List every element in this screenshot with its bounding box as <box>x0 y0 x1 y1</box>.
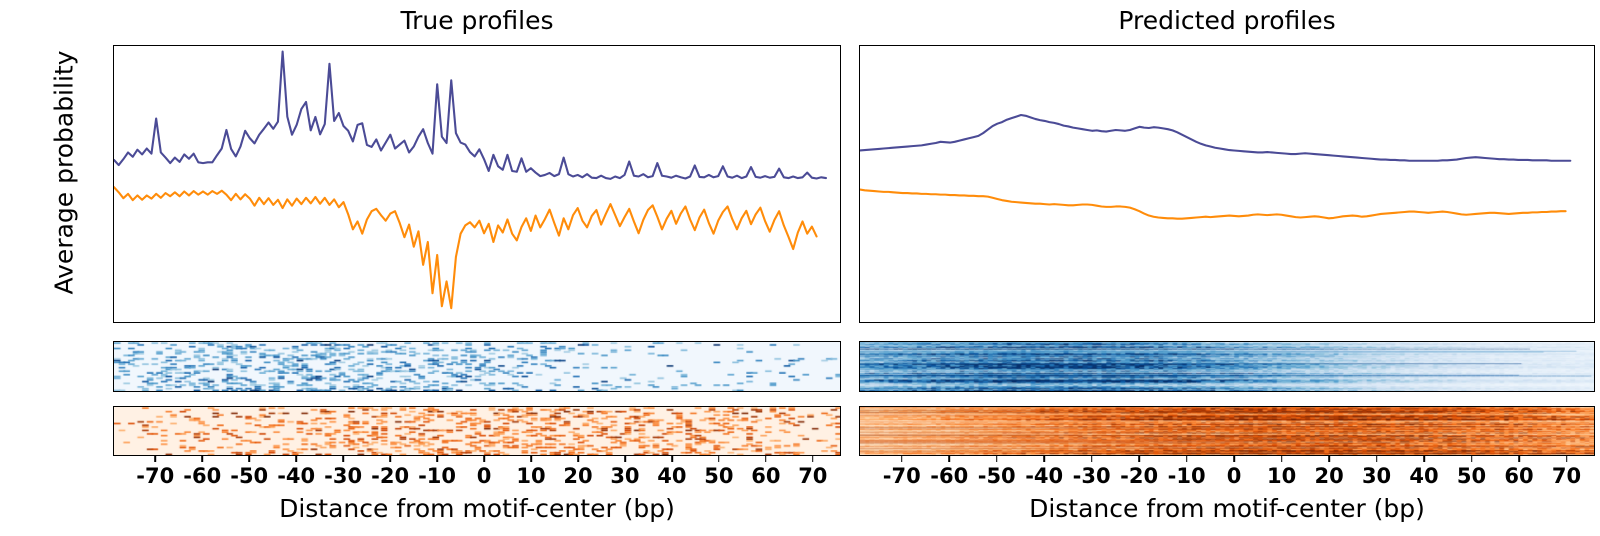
x-tick-label: -20 <box>1120 464 1158 488</box>
x-tick-label: 60 <box>751 464 780 488</box>
x-tick-label: 0 <box>477 464 492 488</box>
x-tick-label: -40 <box>277 464 315 488</box>
x-tick-mark <box>1138 456 1140 462</box>
panel-true-profiles: True profiles 0.020.00-0.02 Distance fro… <box>113 0 841 536</box>
y-axis-label: Average probability <box>50 23 79 323</box>
x-tick-mark <box>901 456 903 462</box>
x-tick-mark <box>1328 456 1330 462</box>
x-tick-label: -50 <box>230 464 268 488</box>
series-true-positive <box>114 52 826 179</box>
x-tick-label: 30 <box>610 464 639 488</box>
x-tick-label: -60 <box>183 464 221 488</box>
heatmap-true-positive-strand <box>113 341 841 392</box>
x-tick-label: 10 <box>516 464 545 488</box>
x-axis-label-true: Distance from motif-center (bp) <box>113 494 841 523</box>
x-tick-mark <box>483 456 485 462</box>
x-tick-mark <box>1423 456 1425 462</box>
lineplot-predicted-svg <box>860 46 1594 322</box>
series-predicted-positive <box>860 115 1570 161</box>
x-tick-mark <box>436 456 438 462</box>
x-tick-mark <box>154 456 156 462</box>
x-tick-label: 30 <box>1362 464 1391 488</box>
x-tick-label: 60 <box>1504 464 1533 488</box>
x-tick-mark <box>248 456 250 462</box>
x-tick-label: -60 <box>930 464 968 488</box>
x-tick-mark <box>1518 456 1520 462</box>
x-tick-mark <box>201 456 203 462</box>
x-tick-mark <box>295 456 297 462</box>
x-tick-mark <box>996 456 998 462</box>
x-tick-mark <box>530 456 532 462</box>
x-tick-label: -30 <box>324 464 362 488</box>
x-tick-mark <box>1566 456 1568 462</box>
x-tick-label: 20 <box>1314 464 1343 488</box>
x-tick-mark <box>948 456 950 462</box>
x-tick-label: -50 <box>978 464 1016 488</box>
heatmap-true-positive-canvas <box>114 342 840 391</box>
series-true-negative <box>114 187 817 308</box>
x-tick-mark <box>1186 456 1188 462</box>
figure-root: Average probability True profiles 0.020.… <box>0 0 1600 536</box>
x-tick-label: 50 <box>704 464 733 488</box>
y-tick-mark <box>113 107 114 109</box>
x-tick-label: 40 <box>657 464 686 488</box>
x-tick-mark <box>765 456 767 462</box>
x-tick-label: -70 <box>136 464 174 488</box>
series-predicted-negative <box>860 190 1566 219</box>
heatmap-predicted-positive-strand <box>859 341 1595 392</box>
heatmap-predicted-positive-canvas <box>860 342 1594 391</box>
x-tick-label: 70 <box>798 464 827 488</box>
x-tick-label: 50 <box>1457 464 1486 488</box>
heatmap-true-negative-strand <box>113 406 841 456</box>
lineplot-true: 0.020.00-0.02 <box>113 45 841 323</box>
x-tick-label: -70 <box>883 464 921 488</box>
x-tick-mark <box>812 456 814 462</box>
x-axis-label-predicted: Distance from motif-center (bp) <box>859 494 1595 523</box>
heatmap-predicted-negative-strand <box>859 406 1595 456</box>
x-tick-label: -10 <box>1168 464 1206 488</box>
x-tick-mark <box>389 456 391 462</box>
x-tick-mark <box>577 456 579 462</box>
lineplot-predicted <box>859 45 1595 323</box>
y-tick-mark <box>113 186 114 188</box>
x-tick-mark <box>1471 456 1473 462</box>
x-tick-label: -30 <box>1073 464 1111 488</box>
heatmap-predicted-negative-canvas <box>860 407 1594 455</box>
x-tick-mark <box>671 456 673 462</box>
x-tick-mark <box>1376 456 1378 462</box>
x-tick-label: 20 <box>563 464 592 488</box>
x-tick-label: 70 <box>1552 464 1581 488</box>
panel-title-predicted: Predicted profiles <box>859 6 1595 36</box>
y-tick-mark <box>113 266 114 268</box>
x-tick-mark <box>624 456 626 462</box>
x-axis-true: Distance from motif-center (bp) -70-60-5… <box>113 456 841 536</box>
x-tick-mark <box>1281 456 1283 462</box>
x-tick-mark <box>1233 456 1235 462</box>
panel-title-true: True profiles <box>113 6 841 36</box>
panel-predicted-profiles: Predicted profiles Distance from motif-c… <box>859 0 1595 536</box>
heatmap-true-negative-canvas <box>114 407 840 455</box>
x-tick-label: 40 <box>1409 464 1438 488</box>
x-tick-mark <box>342 456 344 462</box>
x-tick-label: 0 <box>1227 464 1242 488</box>
x-tick-label: -40 <box>1025 464 1063 488</box>
x-tick-mark <box>1043 456 1045 462</box>
lineplot-true-svg <box>114 46 840 322</box>
x-tick-mark <box>1091 456 1093 462</box>
x-tick-label: 10 <box>1267 464 1296 488</box>
x-tick-mark <box>718 456 720 462</box>
x-tick-label: -20 <box>371 464 409 488</box>
x-tick-label: -10 <box>418 464 456 488</box>
x-axis-predicted: Distance from motif-center (bp) -70-60-5… <box>859 456 1595 536</box>
